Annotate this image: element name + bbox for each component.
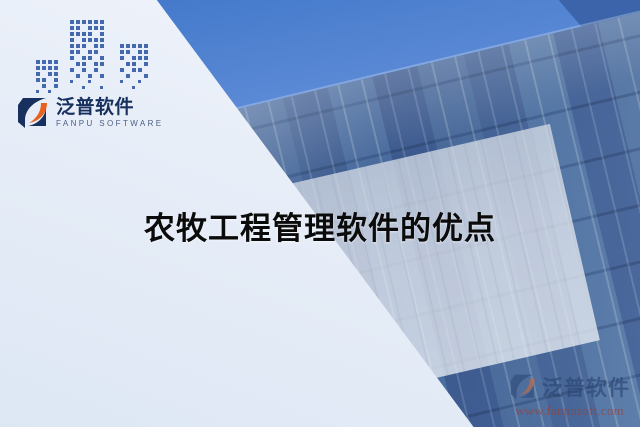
fanpu-swoosh-logo-icon	[16, 96, 52, 130]
logo-name-en: FANPU SOFTWARE	[56, 120, 164, 128]
logo-lockup: 泛普软件 FANPU SOFTWARE	[16, 96, 166, 130]
promo-banner: 泛普软件 FANPU SOFTWARE 农牧工程管理软件的优点 泛普软件 www…	[0, 0, 640, 427]
logo-name-cn: 泛普软件	[56, 98, 164, 117]
banner-title: 农牧工程管理软件的优点	[0, 203, 640, 248]
brand-logo-block: 泛普软件 FANPU SOFTWARE	[16, 12, 166, 130]
dotted-skyline-icon	[34, 12, 166, 94]
logo-text-group: 泛普软件 FANPU SOFTWARE	[56, 98, 164, 128]
